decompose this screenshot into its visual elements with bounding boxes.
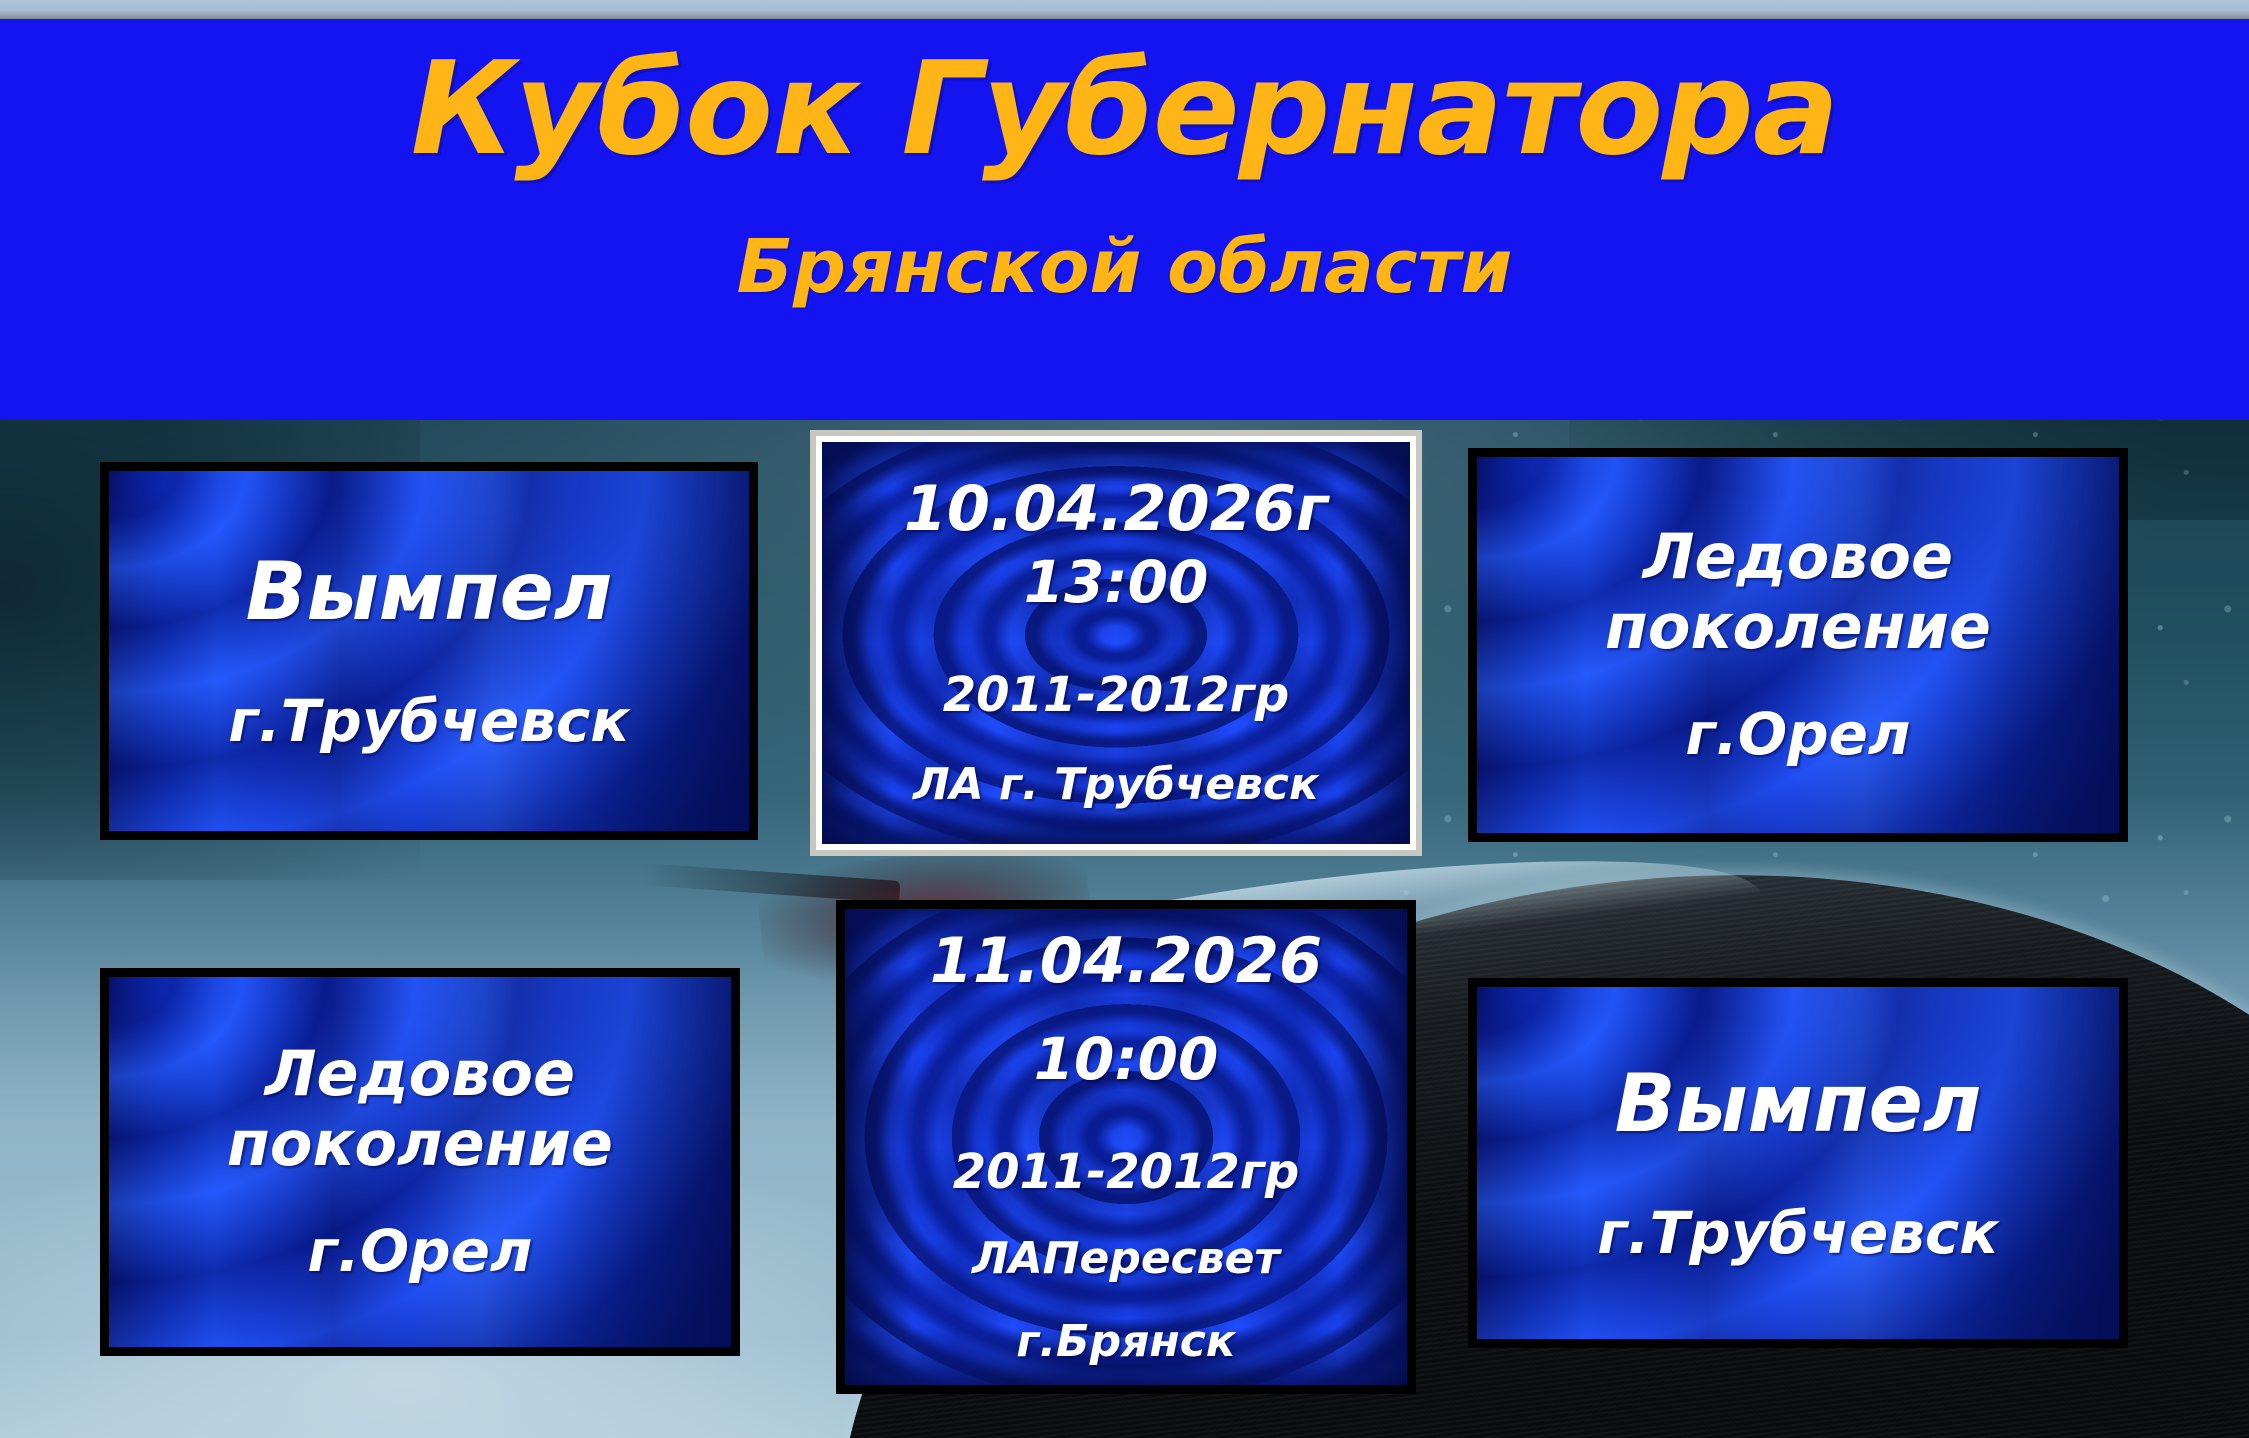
team-card-match1-home[interactable]: Вымпел г.Трубчевск bbox=[100, 462, 758, 840]
presentation-slide: Кубок Губернатора Брянской области Вымпе… bbox=[0, 0, 2249, 1438]
team-name-line-2: поколение bbox=[125, 1109, 715, 1178]
title-banner: Кубок Губернатора Брянской области bbox=[0, 19, 2249, 420]
team-card-match1-away[interactable]: Ледовое поколение г.Орел bbox=[1468, 448, 2128, 842]
match-date: 10.04.2026г bbox=[838, 472, 1394, 545]
team-city: г.Трубчевск bbox=[1493, 1200, 2103, 1267]
team-name-line-2: поколение bbox=[1493, 592, 2103, 661]
team-card-match2-home[interactable]: Ледовое поколение г.Орел bbox=[100, 968, 740, 1356]
match-info-card-1[interactable]: 10.04.2026г 13:00 2011-2012гр ЛА г. Труб… bbox=[816, 436, 1416, 850]
match-venue-line-1: ЛАПересвет bbox=[861, 1230, 1391, 1287]
spacer bbox=[125, 636, 733, 688]
match-venue-line-1: ЛА г. Трубчевск bbox=[838, 756, 1394, 813]
team-name-line-1: Ледовое bbox=[1493, 522, 2103, 591]
match-info-card-2[interactable]: 11.04.2026 10:00 2011-2012гр ЛАПересвет … bbox=[836, 900, 1416, 1394]
match-venue-line-2: г.Брянск bbox=[861, 1313, 1391, 1370]
spacer bbox=[838, 726, 1394, 756]
team-city: г.Орел bbox=[125, 1218, 715, 1285]
team-city: г.Трубчевск bbox=[125, 688, 733, 755]
top-edge-strip bbox=[0, 0, 2249, 19]
spacer bbox=[1493, 661, 2103, 701]
team-city: г.Орел bbox=[1493, 701, 2103, 768]
team-card-match2-away[interactable]: Вымпел г.Трубчевск bbox=[1468, 978, 2128, 1348]
team-name: Вымпел bbox=[125, 547, 733, 637]
team-name-line-1: Ледовое bbox=[125, 1039, 715, 1108]
team-card-content: Ледовое поколение г.Орел bbox=[1477, 522, 2119, 768]
match-age-group: 2011-2012гр bbox=[861, 1141, 1391, 1203]
spacer bbox=[838, 618, 1394, 664]
match-time: 13:00 bbox=[838, 546, 1394, 619]
page-title: Кубок Губернатора bbox=[0, 41, 2249, 179]
page-subtitle: Брянской области bbox=[0, 227, 2249, 308]
spacer bbox=[861, 997, 1391, 1023]
match-date: 11.04.2026 bbox=[861, 924, 1391, 997]
match-info-content: 10.04.2026г 13:00 2011-2012гр ЛА г. Труб… bbox=[822, 472, 1410, 813]
team-card-content: Вымпел г.Трубчевск bbox=[109, 547, 749, 755]
spacer bbox=[861, 1095, 1391, 1141]
team-card-content: Вымпел г.Трубчевск bbox=[1477, 1059, 2119, 1267]
spacer bbox=[1493, 1148, 2103, 1200]
match-age-group: 2011-2012гр bbox=[838, 664, 1394, 726]
match-time: 10:00 bbox=[861, 1023, 1391, 1096]
spacer bbox=[861, 1204, 1391, 1230]
team-card-content: Ледовое поколение г.Орел bbox=[109, 1039, 731, 1285]
spacer bbox=[125, 1178, 715, 1218]
team-name: Вымпел bbox=[1493, 1059, 2103, 1149]
match-info-content: 11.04.2026 10:00 2011-2012гр ЛАПересвет … bbox=[845, 924, 1407, 1370]
spacer bbox=[861, 1287, 1391, 1313]
